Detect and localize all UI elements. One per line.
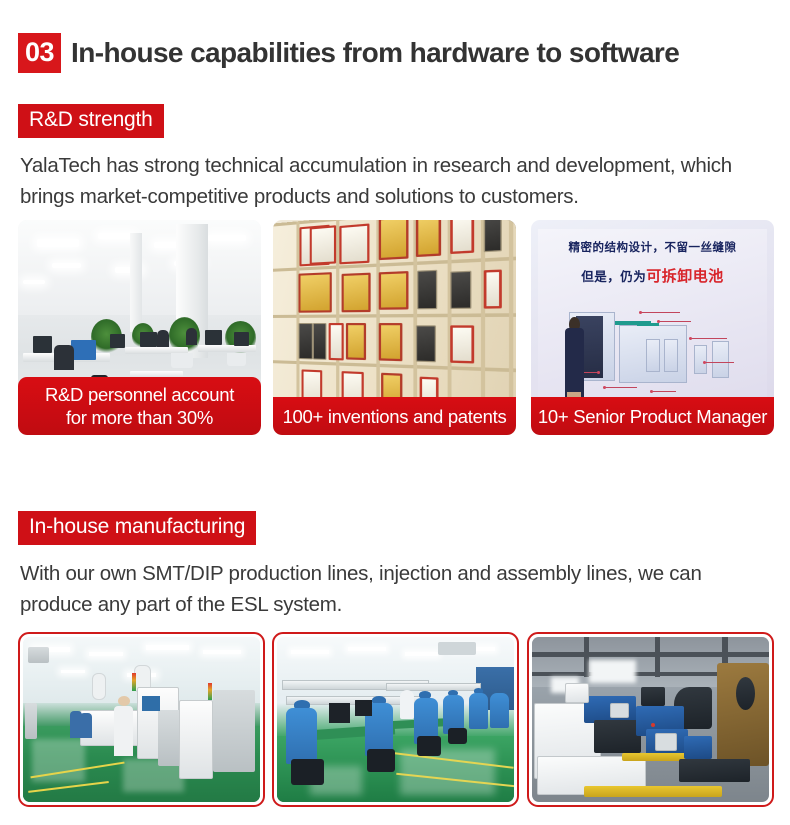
- slide-headline-line1: 精密的结构设计，不留一丝缝隙: [531, 239, 774, 255]
- slide-headline-line2: 但是，仍为可拆卸电池: [531, 265, 774, 286]
- office-caption: R&D personnel account for more than 30%: [18, 377, 261, 435]
- mfg-card-smt[interactable]: [18, 632, 265, 807]
- rd-card-presentation[interactable]: 精密的结构设计，不留一丝缝隙 但是，仍为可拆卸电池: [531, 220, 774, 435]
- office-caption-line1: R&D personnel account: [45, 384, 234, 405]
- smt-photo: [23, 637, 260, 802]
- rd-card-office[interactable]: R&D personnel account for more than 30%: [18, 220, 261, 435]
- manufacturing-label: In-house manufacturing: [18, 511, 256, 545]
- rd-strength-paragraph: YalaTech has strong technical accumulati…: [20, 150, 775, 212]
- manufacturing-paragraph: With our own SMT/DIP production lines, i…: [20, 558, 775, 620]
- rd-strength-label: R&D strength: [18, 104, 164, 138]
- rd-card-row: R&D personnel account for more than 30%: [0, 220, 790, 440]
- injection-photo: [532, 637, 769, 802]
- slide-line2-prefix: 但是，仍为: [581, 269, 646, 284]
- section-number-badge: 03: [18, 33, 61, 73]
- mfg-card-assembly[interactable]: [272, 632, 519, 807]
- section-heading: 03 In-house capabilities from hardware t…: [18, 33, 679, 73]
- slide-line2-highlight: 可拆卸电池: [646, 267, 724, 285]
- capabilities-page: 03 In-house capabilities from hardware t…: [0, 0, 790, 825]
- mfg-card-injection[interactable]: [527, 632, 774, 807]
- assembly-photo: [277, 637, 514, 802]
- page-title: In-house capabilities from hardware to s…: [71, 37, 679, 69]
- certificates-caption: 100+ inventions and patents: [273, 397, 516, 435]
- office-caption-line2: for more than 30%: [66, 407, 213, 428]
- rd-card-certificates[interactable]: 100+ inventions and patents: [273, 220, 516, 435]
- presentation-caption: 10+ Senior Product Manager: [531, 397, 774, 435]
- manufacturing-card-row: [0, 632, 790, 810]
